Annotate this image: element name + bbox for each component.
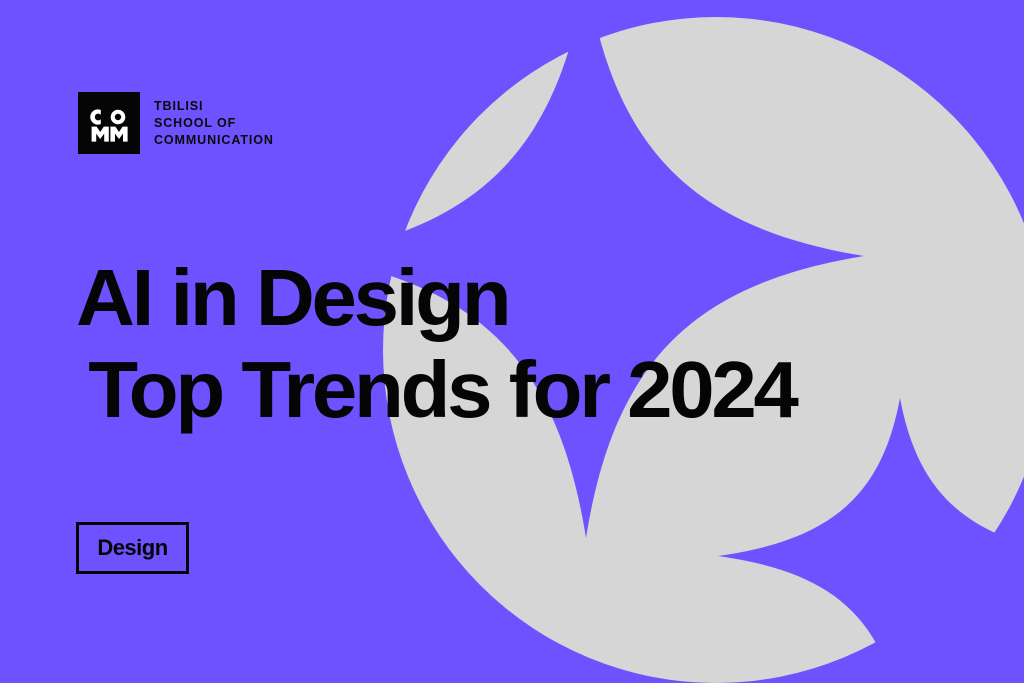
logo-wordmark: TBILISI SCHOOL OF COMMUNICATION bbox=[154, 92, 274, 148]
category-badge-design[interactable]: Design bbox=[76, 522, 189, 574]
logo-wordmark-line-2: SCHOOL OF bbox=[154, 116, 274, 131]
logo-lockup[interactable]: TBILISI SCHOOL OF COMMUNICATION bbox=[78, 92, 274, 154]
secondary-sparkle-star bbox=[718, 398, 1024, 683]
headline-line-1: AI in Design bbox=[76, 252, 796, 344]
headline-line-2: Top Trends for 2024 bbox=[76, 344, 796, 436]
logo-wordmark-line-1: TBILISI bbox=[154, 99, 274, 114]
page-title: AI in Design Top Trends for 2024 bbox=[76, 252, 781, 436]
comm-square-logo-icon bbox=[78, 92, 140, 154]
poster-canvas: TBILISI SCHOOL OF COMMUNICATION AI in De… bbox=[0, 0, 1024, 683]
logo-wordmark-line-3: COMMUNICATION bbox=[154, 133, 274, 148]
